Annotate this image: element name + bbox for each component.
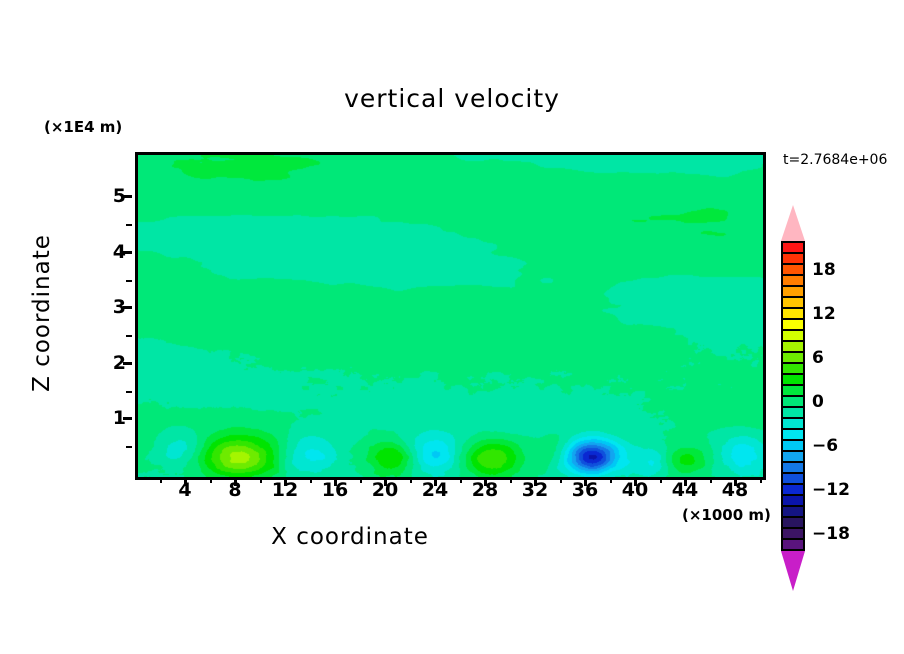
colorbar-band xyxy=(781,386,805,395)
colorbar-band xyxy=(781,287,805,296)
contour-plot-area xyxy=(135,152,766,480)
y-minor-tick xyxy=(126,446,132,448)
colorbar-band xyxy=(781,309,805,318)
colorbar-tick-label: 6 xyxy=(812,348,824,368)
colorbar-band xyxy=(781,408,805,417)
time-annotation: t=2.7684e+06 xyxy=(783,152,887,168)
x-minor-tick xyxy=(260,477,262,483)
x-minor-tick xyxy=(510,477,512,483)
colorbar-band xyxy=(781,320,805,329)
colorbar-band xyxy=(781,265,805,274)
figure-canvas: vertical velocity (×1E4 m) (×1000 m) X c… xyxy=(0,0,904,654)
vertical-velocity-field xyxy=(138,155,763,477)
colorbar-tick-label: 0 xyxy=(812,392,824,412)
colorbar-band xyxy=(781,430,805,439)
chart-title: vertical velocity xyxy=(0,84,904,113)
y-minor-tick xyxy=(126,224,132,226)
colorbar-band xyxy=(781,419,805,428)
colorbar-bands xyxy=(781,241,805,551)
colorbar-band xyxy=(781,463,805,472)
x-minor-tick xyxy=(710,477,712,483)
colorbar-band xyxy=(781,485,805,494)
x-minor-tick xyxy=(560,477,562,483)
y-minor-tick xyxy=(126,391,132,393)
y-tick-label: 4 xyxy=(104,241,126,263)
colorbar-tick-label: −12 xyxy=(812,480,850,500)
colorbar-band xyxy=(781,243,805,252)
x-tick-label: 36 xyxy=(572,479,598,501)
colorbar-band xyxy=(781,529,805,538)
y-tick-label: 2 xyxy=(104,352,126,374)
colorbar-band xyxy=(781,298,805,307)
y-axis-title: Z coordinate xyxy=(29,203,55,423)
colorbar-tick-label: −6 xyxy=(812,436,838,456)
x-minor-tick xyxy=(410,477,412,483)
y-minor-tick xyxy=(126,280,132,282)
colorbar-band xyxy=(781,353,805,362)
colorbar-tick-label: 18 xyxy=(812,260,836,280)
colorbar-under-arrow xyxy=(781,551,805,591)
colorbar-band xyxy=(781,276,805,285)
colorbar-band xyxy=(781,518,805,527)
x-tick-label: 40 xyxy=(622,479,648,501)
colorbar-tick-label: −18 xyxy=(812,524,850,544)
x-tick-label: 44 xyxy=(672,479,698,501)
y-tick-label: 5 xyxy=(104,185,126,207)
y-tick-label: 1 xyxy=(104,407,126,429)
x-minor-tick xyxy=(760,477,762,483)
colorbar-band xyxy=(781,496,805,505)
x-minor-tick xyxy=(210,477,212,483)
colorbar-band xyxy=(781,452,805,461)
colorbar-band xyxy=(781,254,805,263)
x-axis-unit-label: (×1000 m) xyxy=(682,506,771,524)
colorbar-band xyxy=(781,474,805,483)
x-tick-label: 20 xyxy=(372,479,398,501)
x-tick-label: 16 xyxy=(322,479,348,501)
colorbar-tick-label: 12 xyxy=(812,304,836,324)
colorbar-band xyxy=(781,364,805,373)
colorbar-band xyxy=(781,331,805,340)
x-minor-tick xyxy=(610,477,612,483)
colorbar-over-arrow xyxy=(781,205,805,241)
colorbar-band xyxy=(781,507,805,516)
x-minor-tick xyxy=(310,477,312,483)
x-axis-title: X coordinate xyxy=(0,524,700,550)
x-minor-tick xyxy=(360,477,362,483)
x-tick-label: 12 xyxy=(272,479,298,501)
velocity-contour-canvas xyxy=(138,155,763,477)
y-minor-tick xyxy=(126,335,132,337)
x-tick-label: 8 xyxy=(228,479,241,501)
x-minor-tick xyxy=(160,477,162,483)
x-minor-tick xyxy=(460,477,462,483)
x-minor-tick xyxy=(660,477,662,483)
x-tick-label: 48 xyxy=(722,479,748,501)
y-axis-unit-label: (×1E4 m) xyxy=(44,118,122,136)
colorbar-band xyxy=(781,375,805,384)
x-tick-label: 32 xyxy=(522,479,548,501)
y-tick-label: 3 xyxy=(104,296,126,318)
x-tick-label: 4 xyxy=(178,479,191,501)
x-tick-label: 28 xyxy=(472,479,498,501)
colorbar-band xyxy=(781,540,805,549)
colorbar-band xyxy=(781,441,805,450)
x-tick-label: 24 xyxy=(422,479,448,501)
colorbar-band xyxy=(781,397,805,406)
colorbar-band xyxy=(781,342,805,351)
